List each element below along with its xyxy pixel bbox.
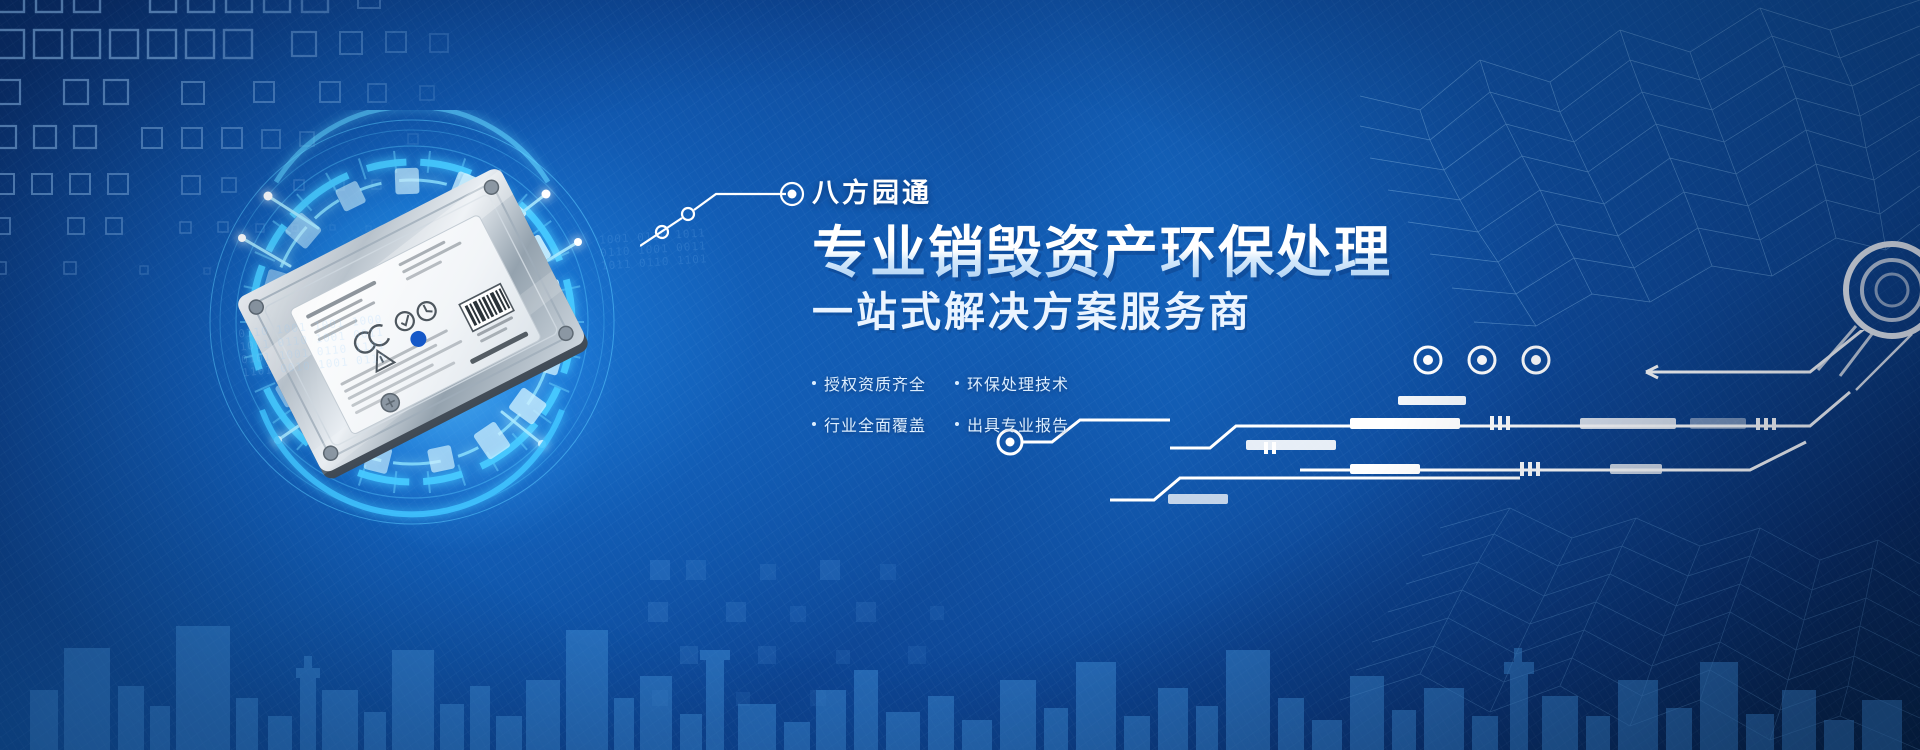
bullet-dot-icon (812, 422, 816, 426)
right-edge-ring-decoration (1800, 230, 1920, 390)
page-subtitle: 一站式解决方案服务商 (812, 289, 1512, 336)
hero-copy-block: 八方园通 专业销毁资产环保处理 一站式解决方案服务商 授权资质齐全 环保处理技术… (812, 180, 1512, 436)
wireframe-mesh-bottom-right (1300, 450, 1920, 750)
hero-banner: 0110 1001 1001 1000 1011 0110 1001 0011 … (0, 0, 1920, 750)
feature-item: 授权资质齐全 (812, 371, 955, 395)
feature-label: 行业全面覆盖 (824, 412, 926, 436)
bullet-dot-icon (955, 381, 959, 385)
page-title: 专业销毁资产环保处理 (812, 223, 1512, 283)
feature-item: 出具专业报告 (955, 412, 1115, 436)
feature-label: 授权资质齐全 (824, 371, 926, 395)
city-skyline-decoration (0, 530, 1920, 750)
feature-label: 出具专业报告 (967, 412, 1069, 436)
feature-item: 行业全面覆盖 (812, 412, 955, 436)
bullet-dot-icon (955, 422, 959, 426)
feature-item: 环保处理技术 (955, 371, 1115, 395)
bullet-dot-icon (812, 381, 816, 385)
feature-label: 环保处理技术 (967, 371, 1069, 395)
bottom-pixel-blocks-decoration (640, 550, 1340, 750)
feature-list: 授权资质齐全 环保处理技术 行业全面覆盖 出具专业报告 (812, 371, 1122, 436)
brand-name: 八方园通 (812, 180, 1512, 207)
hard-disk-illustration (150, 110, 670, 530)
